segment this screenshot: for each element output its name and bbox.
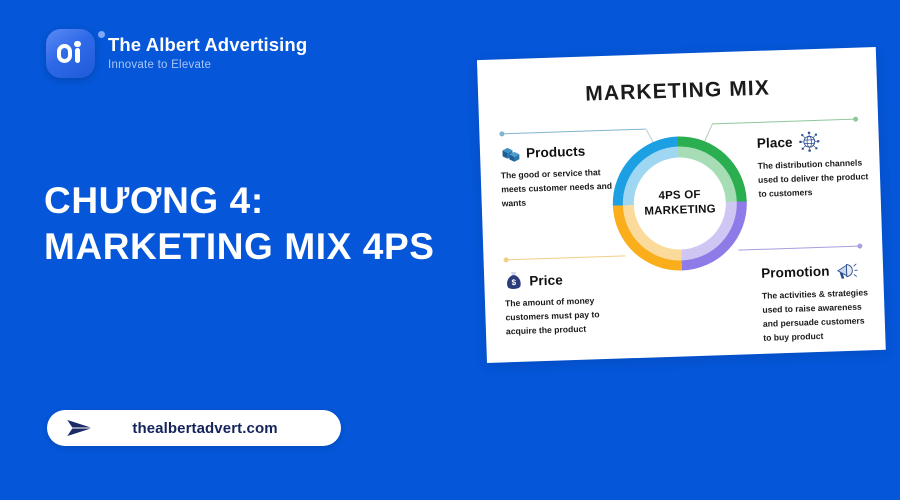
brand-tagline: Innovate to Elevate [108, 60, 307, 72]
connector-promotion [738, 245, 862, 249]
page-title: CHƯƠNG 4: MARKETING MIX 4PS [44, 178, 514, 271]
marketing-mix-card: MARKETING MIX [477, 47, 886, 363]
donut-center-line1: 4PS OF [658, 189, 700, 202]
svg-text:$: $ [511, 278, 516, 287]
quadrant-title-price: Price [529, 272, 563, 288]
quadrant-title-promotion: Promotion [761, 264, 830, 281]
website-url-text: thealbertadvert.com [95, 420, 315, 437]
brand-lockup: The Albert Advertising Innovate to Eleva… [46, 29, 307, 78]
quadrant-body-products: The good or service that meets customer … [501, 165, 625, 211]
page-title-line2: MARKETING MIX 4PS [44, 224, 514, 270]
quadrant-promotion: Promotion The activities & strategies us… [761, 259, 876, 345]
ai-monogram-logo [46, 29, 95, 78]
brand-text: The Albert Advertising Innovate to Eleva… [108, 36, 307, 72]
page-title-line1: CHƯƠNG 4: [44, 180, 264, 221]
quadrant-place: Place [757, 129, 871, 201]
quadrant-body-promotion: The activities & strategies used to rais… [762, 286, 876, 345]
quadrant-title-products: Products [526, 144, 586, 161]
card-title: MARKETING MIX [478, 73, 878, 110]
boxes-icon [500, 144, 521, 164]
logo-letter-i [75, 48, 80, 63]
logo-dot [74, 41, 81, 48]
connector-place [712, 119, 858, 124]
quadrant-body-place: The distribution channels used to delive… [757, 156, 870, 201]
logo-letter-a [57, 44, 72, 63]
slide-canvas: The Albert Advertising Innovate to Eleva… [0, 0, 900, 500]
network-globe-icon [798, 131, 820, 153]
connector-price [504, 255, 626, 259]
paper-plane-icon [65, 417, 95, 439]
quadrant-title-place: Place [757, 135, 793, 151]
four-ps-donut-chart: 4PS OF MARKETING [611, 134, 749, 272]
connector-products [499, 129, 645, 134]
donut-center-line2: MARKETING [644, 203, 716, 217]
quadrant-price: $ Price The amount of money customers mu… [504, 267, 629, 339]
quadrant-products: Products The good or service that meets … [500, 140, 625, 211]
quadrant-body-price: The amount of money customers must pay t… [505, 293, 629, 339]
brand-name: The Albert Advertising [108, 36, 307, 55]
donut-center-label: 4PS OF MARKETING [644, 188, 716, 220]
website-url-pill[interactable]: thealbertadvert.com [47, 410, 341, 446]
logo-spark-dot [98, 31, 105, 38]
money-bag-icon: $ [504, 271, 524, 292]
megaphone-icon [835, 260, 859, 282]
